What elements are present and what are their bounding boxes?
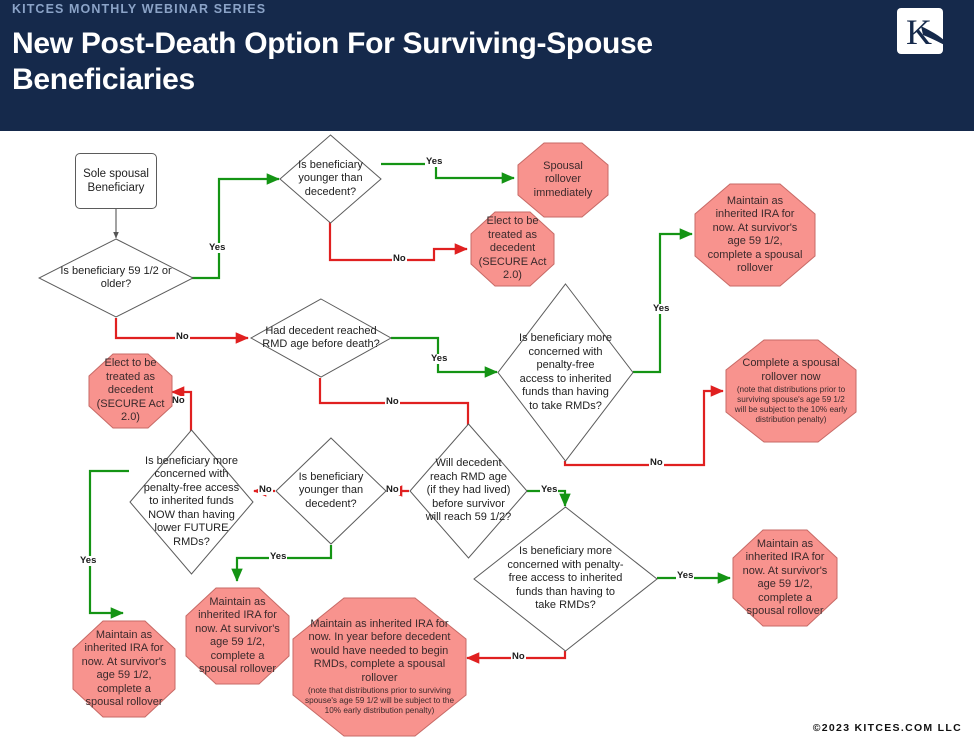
node-maintain-inherited-ira-2[interactable]: Maintain as inherited IRA for now. At su…	[72, 620, 176, 718]
node-spousal-rollover-immediately[interactable]: Spousal rollover immediately	[517, 142, 609, 218]
node-label: Will decedent reach RMD age (if they had…	[420, 457, 518, 525]
node-label: Maintain as inherited IRA for now. At su…	[75, 629, 172, 710]
node-label: Spousal rollover immediately	[519, 160, 606, 201]
node-label: Maintain as inherited IRA for now. In ye…	[309, 618, 451, 684]
edge-label-willreach-yes: Yes	[540, 485, 558, 495]
edge-label-younger2-no: No	[258, 485, 273, 495]
node-label: Sole spousal Beneficiary	[76, 167, 156, 195]
edge-label-rmdage-no: No	[385, 397, 400, 407]
node-label: Is beneficiary more concerned with penal…	[133, 455, 250, 550]
node-label: Is beneficiary younger than decedent?	[286, 159, 374, 200]
node-label: Is beneficiary 59 1/2 or older?	[52, 265, 179, 292]
node-note: (note that distributions prior to surviv…	[303, 686, 457, 716]
page-header: KITCES MONTHLY WEBINAR SERIES New Post-D…	[0, 0, 974, 131]
node-note: (note that distributions prior to surviv…	[732, 385, 851, 425]
node-elect-treated-as-decedent-2[interactable]: Elect to be treated as decedent (SECURE …	[88, 353, 173, 429]
edge-label-younger1-no: No	[392, 254, 407, 264]
edge-label-willreach-no: No	[385, 485, 400, 495]
edge-label-future-no: No	[171, 396, 186, 406]
node-concerned-penalty-free-now-vs-future-rmds[interactable]: Is beneficiary more concerned with penal…	[129, 429, 254, 575]
node-is-beneficiary-59-or-older[interactable]: Is beneficiary 59 1/2 or older?	[38, 238, 194, 318]
edge-label-younger2-yes: Yes	[269, 552, 287, 562]
kitces-logo: K	[897, 8, 949, 60]
node-label: Complete a spousal rollover now	[742, 357, 839, 383]
node-label-wrap: Maintain as inherited IRA for now. In ye…	[297, 618, 463, 717]
page-title: New Post-Death Option For Surviving-Spou…	[12, 26, 712, 98]
flowchart-page: KITCES MONTHLY WEBINAR SERIES New Post-D…	[0, 0, 974, 744]
node-label: Elect to be treated as decedent (SECURE …	[90, 357, 172, 425]
node-concerned-penalty-free-vs-rmds-2[interactable]: Is beneficiary more concerned with penal…	[473, 506, 658, 652]
node-is-beneficiary-younger-than-decedent-2[interactable]: Is beneficiary younger than decedent?	[275, 437, 387, 545]
flowchart-canvas: Yes No Yes No Yes No Yes No Yes No No Ye…	[0, 131, 974, 744]
node-label-wrap: Complete a spousal rollover now (note th…	[726, 357, 857, 425]
webinar-series-eyebrow: KITCES MONTHLY WEBINAR SERIES	[12, 2, 266, 16]
node-elect-treated-as-decedent-1[interactable]: Elect to be treated as decedent (SECURE …	[470, 211, 555, 287]
node-label: Maintain as inherited IRA for now. At su…	[736, 538, 835, 619]
node-label: Maintain as inherited IRA for now. At su…	[699, 195, 811, 276]
edge-label-concern1-no: No	[649, 458, 664, 468]
edge-label-concern1-yes: Yes	[652, 304, 670, 314]
node-label: Had decedent reached RMD age before deat…	[255, 325, 386, 352]
edge-label-concern2-no: No	[511, 652, 526, 662]
copyright-notice: ©2023 KITCES.COM LLC	[813, 722, 962, 734]
node-is-beneficiary-younger-than-decedent-1[interactable]: Is beneficiary younger than decedent?	[279, 134, 382, 224]
edge-label-younger1-yes: Yes	[425, 157, 443, 167]
logo-swash-icon	[919, 22, 949, 52]
node-label: Is beneficiary younger than decedent?	[284, 471, 379, 512]
edge-label-age59-yes: Yes	[208, 243, 226, 253]
node-maintain-inherited-ira-year-before-rmds[interactable]: Maintain as inherited IRA for now. In ye…	[292, 597, 467, 737]
node-label: Is beneficiary more concerned with penal…	[498, 545, 632, 613]
edge-label-age59-no: No	[175, 332, 190, 342]
edge-label-rmdage-yes: Yes	[430, 354, 448, 364]
node-label: Is beneficiary more concerned with penal…	[513, 332, 618, 413]
node-maintain-inherited-ira-1[interactable]: Maintain as inherited IRA for now. At su…	[694, 183, 816, 287]
node-maintain-inherited-ira-4[interactable]: Maintain as inherited IRA for now. At su…	[732, 529, 838, 627]
node-label: Maintain as inherited IRA for now. At su…	[188, 596, 286, 677]
edge-label-concern2-yes: Yes	[676, 571, 694, 581]
node-maintain-inherited-ira-3[interactable]: Maintain as inherited IRA for now. At su…	[185, 587, 290, 685]
node-had-decedent-reached-rmd-age[interactable]: Had decedent reached RMD age before deat…	[250, 298, 392, 378]
node-sole-spousal-beneficiary[interactable]: Sole spousal Beneficiary	[75, 153, 157, 209]
node-label: Elect to be treated as decedent (SECURE …	[472, 215, 554, 283]
edge-label-future-yes: Yes	[79, 556, 97, 566]
node-complete-spousal-rollover-now[interactable]: Complete a spousal rollover now (note th…	[725, 339, 857, 443]
